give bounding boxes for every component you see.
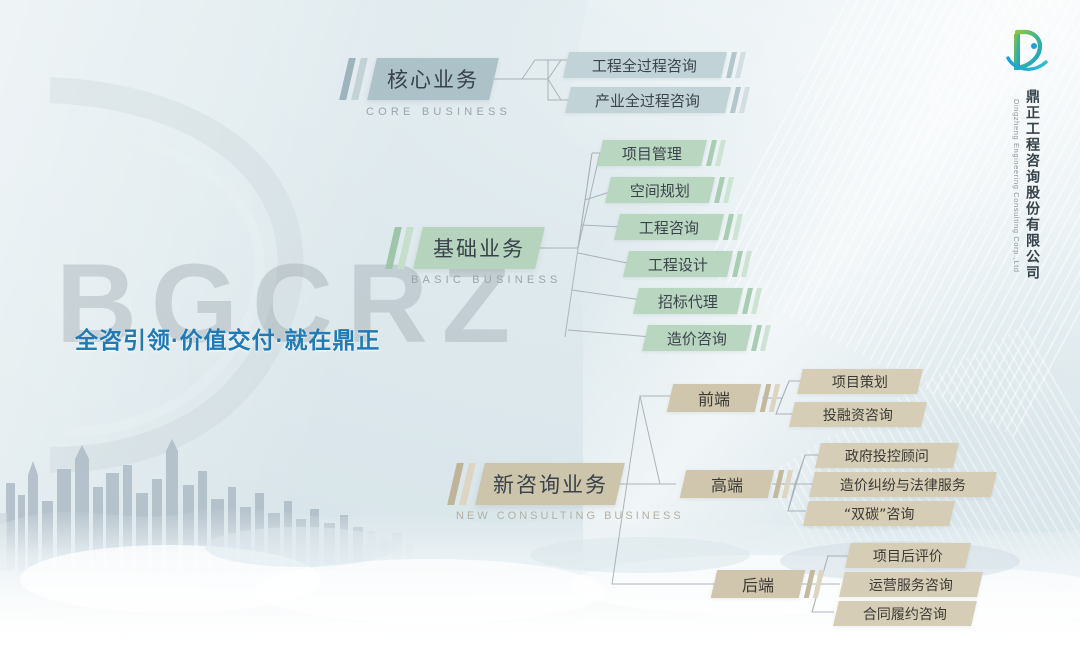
new-group-0-child-1-label: 投融资咨询 [823,405,893,425]
poster-canvas: BGCRZ [0,0,1080,649]
new-group-2-label: 后端 [742,572,774,596]
logo-company-name-en: Dingzheng Engineering Consulting Corp.,L… [1012,89,1021,281]
new-business-title-en: NEW CONSULTING BUSINESS [456,510,684,522]
company-logo: 鼎正工程咨询股份有限公司 Dingzheng Engineering Consu… [988,26,1066,281]
new-business-title: 新咨询业务 [493,469,608,499]
new-group-0-label: 前端 [698,386,730,410]
basic-business-title: 基础业务 [433,233,525,263]
logo-company-name-cn: 鼎正工程咨询股份有限公司 [1022,89,1042,281]
basic-business-title-en: BASIC BUSINESS [411,274,562,286]
basic-child-1-label: 空间规划 [630,180,690,201]
new-group-2-child-1[interactable]: 运营服务咨询 [839,572,983,597]
new-group-2-child-2-label: 合同履约咨询 [863,604,947,624]
basic-child-5-label: 造价咨询 [667,328,727,349]
basic-child-4-label: 招标代理 [658,291,718,312]
basic-child-0-label: 项目管理 [622,143,682,164]
new-group-1-child-1-label: 造价纠纷与法律服务 [840,475,966,495]
core-child-1-label: 产业全过程咨询 [595,90,700,111]
basic-child-4[interactable]: 招标代理 [633,288,743,314]
new-group-1-child-0[interactable]: 政府投控顾问 [815,443,959,468]
basic-child-3-label: 工程设计 [648,254,708,275]
basic-child-5[interactable]: 造价咨询 [642,325,752,351]
new-group-1-label: 高端 [711,472,743,496]
new-group-1-child-2-label: “双碳”咨询 [844,504,915,524]
basic-child-0[interactable]: 项目管理 [597,140,707,166]
new-group-0[interactable]: 前端 [667,384,761,412]
dingzheng-d-mark-icon [1000,26,1054,80]
page-tagline: 全咨引领·价值交付·就在鼎正 [75,321,380,355]
basic-child-1[interactable]: 空间规划 [605,177,715,203]
new-group-1-child-0-label: 政府投控顾问 [845,446,929,466]
core-child-0[interactable]: 工程全过程咨询 [563,52,727,78]
basic-child-3[interactable]: 工程设计 [623,251,733,277]
new-group-2-child-2[interactable]: 合同履约咨询 [833,601,977,626]
new-group-0-child-1[interactable]: 投融资咨询 [789,402,927,427]
core-business-title: 核心业务 [387,64,479,94]
new-group-1-child-1[interactable]: 造价纠纷与法律服务 [809,472,997,497]
basic-child-2-label: 工程咨询 [639,217,699,238]
new-business-title-box[interactable]: 新咨询业务 [475,463,625,505]
new-group-1[interactable]: 高端 [680,470,774,498]
new-group-1-child-2[interactable]: “双碳”咨询 [803,501,955,526]
core-child-0-label: 工程全过程咨询 [592,55,697,76]
new-group-0-child-0-label: 项目策划 [832,372,888,392]
new-group-2[interactable]: 后端 [711,570,805,598]
new-group-2-child-0[interactable]: 项目后评价 [845,543,971,568]
new-group-0-child-0[interactable]: 项目策划 [797,369,923,394]
core-business-title-en: CORE BUSINESS [366,106,511,118]
new-group-2-child-0-label: 项目后评价 [873,546,943,566]
basic-business-title-box[interactable]: 基础业务 [413,227,545,269]
new-group-2-child-1-label: 运营服务咨询 [869,575,953,595]
basic-child-2[interactable]: 工程咨询 [614,214,724,240]
core-child-1[interactable]: 产业全过程咨询 [565,87,731,113]
core-business-title-box[interactable]: 核心业务 [367,58,499,100]
